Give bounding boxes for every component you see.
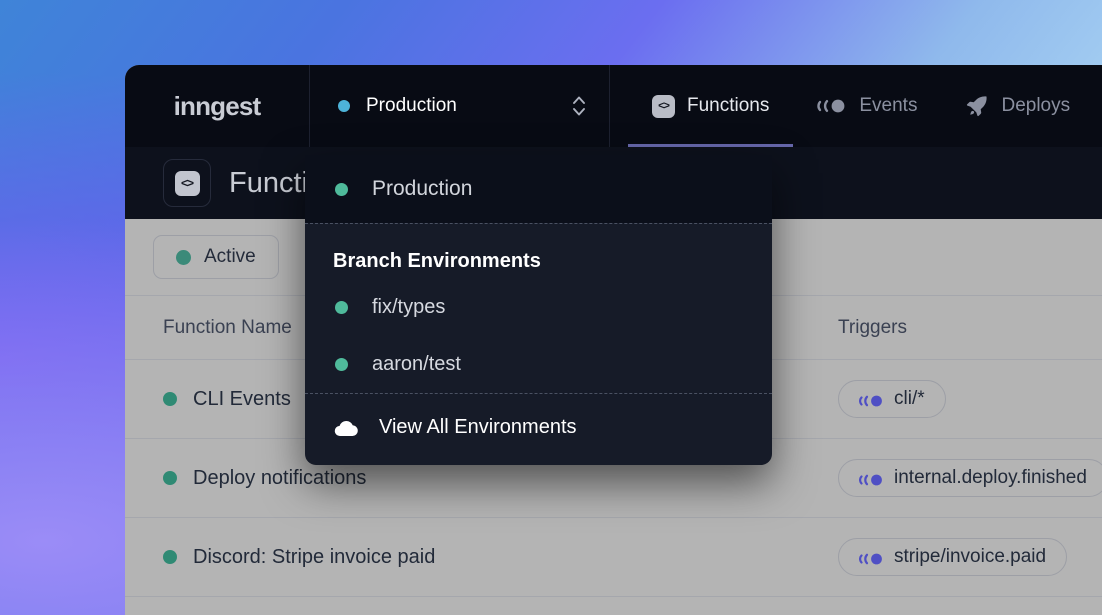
cell-triggers: stripe/invoice.paid xyxy=(800,518,1102,597)
nav-item-deploys[interactable]: Deploys xyxy=(941,65,1094,147)
cell-function-name: Discord: Stripe invoice paid xyxy=(125,518,800,597)
page-header-icon-frame: <> xyxy=(163,159,211,207)
desktop-background: inngest Production <> Functions xyxy=(0,0,1102,615)
function-name-label: Discord: Stripe invoice paid xyxy=(193,546,435,569)
column-header-triggers: Triggers xyxy=(800,296,1102,360)
trigger-pill[interactable]: internal.deploy.finished xyxy=(838,459,1102,497)
cell-triggers: internal.deploy.finished xyxy=(800,439,1102,518)
nav-item-events[interactable]: Events xyxy=(793,65,941,147)
chevron-up-down-icon xyxy=(571,93,587,119)
nav-item-functions[interactable]: <> Functions xyxy=(628,65,793,147)
function-name-cell: Discord: Stripe invoice paid xyxy=(163,546,800,569)
cell-triggers: cli/* xyxy=(800,360,1102,439)
table-row[interactable]: Discord: Stripe invoice paid xyxy=(125,518,1102,597)
function-status-dot xyxy=(163,550,177,564)
trigger-pill[interactable]: stripe/invoice.paid xyxy=(838,538,1067,576)
top-navigation-bar: inngest Production <> Functions xyxy=(125,65,1102,147)
event-stream-icon xyxy=(817,98,847,114)
nav-item-events-label: Events xyxy=(859,95,917,117)
dropdown-item-branch-label: fix/types xyxy=(372,296,445,319)
function-status-dot xyxy=(163,392,177,406)
function-name-label: Deploy notifications xyxy=(193,467,366,490)
dropdown-item-branch-fix-types[interactable]: fix/types xyxy=(305,279,772,336)
trigger-label: cli/* xyxy=(894,388,925,410)
function-status-dot xyxy=(163,471,177,485)
nav-items: <> Functions Events xyxy=(610,65,1102,147)
trigger-pill[interactable]: cli/* xyxy=(838,380,946,418)
environment-dropdown-menu: Production Branch Environments fix/types… xyxy=(305,155,772,465)
environment-status-dot xyxy=(335,183,348,196)
dropdown-item-production-label: Production xyxy=(372,177,472,201)
inngest-logo[interactable]: inngest xyxy=(125,65,310,147)
function-name-label: CLI Events xyxy=(193,388,291,411)
status-filter-active[interactable]: Active xyxy=(153,235,279,279)
cloud-icon xyxy=(333,418,359,438)
event-stream-icon xyxy=(859,471,883,485)
trigger-label: internal.deploy.finished xyxy=(894,467,1087,489)
status-filter-label: Active xyxy=(204,246,256,268)
code-brackets-icon: <> xyxy=(652,95,675,118)
status-dot xyxy=(176,250,191,265)
event-stream-icon xyxy=(859,550,883,564)
dropdown-section-title: Branch Environments xyxy=(305,224,772,279)
environment-status-dot xyxy=(335,301,348,314)
nav-item-deploys-label: Deploys xyxy=(1001,95,1070,117)
environment-current-label: Production xyxy=(366,95,555,117)
event-stream-icon xyxy=(859,392,883,406)
environment-switcher[interactable]: Production xyxy=(310,65,610,147)
brand-name: inngest xyxy=(174,91,261,122)
dropdown-item-production[interactable]: Production xyxy=(305,155,772,223)
rocket-icon xyxy=(965,94,989,118)
dropdown-item-view-all-environments[interactable]: View All Environments xyxy=(305,394,772,465)
nav-item-functions-label: Functions xyxy=(687,95,769,117)
function-name-cell: Deploy notifications xyxy=(163,467,800,490)
dropdown-item-view-all-label: View All Environments xyxy=(379,416,577,439)
trigger-label: stripe/invoice.paid xyxy=(894,546,1046,568)
environment-status-dot xyxy=(335,358,348,371)
dropdown-item-branch-aaron-test[interactable]: aaron/test xyxy=(305,336,772,393)
environment-status-dot xyxy=(338,100,350,112)
dropdown-item-branch-label: aaron/test xyxy=(372,353,461,376)
code-brackets-icon: <> xyxy=(175,171,200,196)
